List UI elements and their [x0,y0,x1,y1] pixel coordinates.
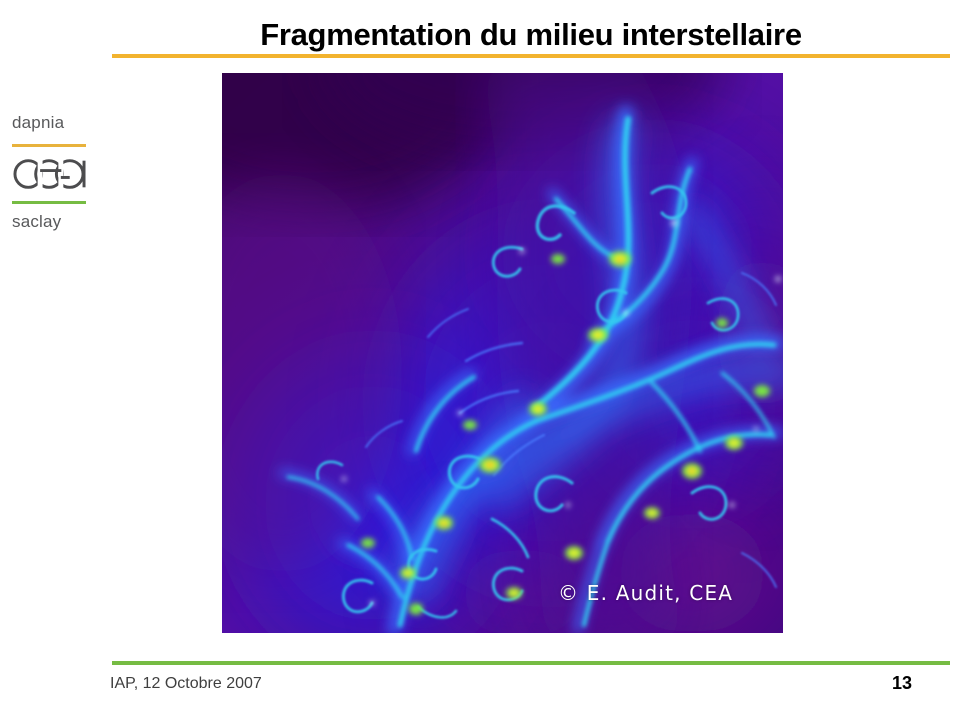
simulation-figure: © E. Audit, CEA [222,73,783,633]
figure-credit: © E. Audit, CEA [558,581,733,605]
logo-divider-gold [12,144,86,147]
logo-word-dapnia: dapnia [12,112,90,133]
cea-dapnia-saclay-logo: dapnia saclay [12,112,90,232]
page-title: Fragmentation du milieu interstellaire [112,16,950,54]
page-number: 13 [892,673,912,694]
cea-logo-mark [12,157,86,191]
title-divider [112,54,950,58]
footer-divider [112,661,950,665]
simulation-image [222,73,783,633]
footer-event-date: IAP, 12 Octobre 2007 [110,675,262,693]
logo-word-saclay: saclay [12,211,90,232]
logo-divider-green [12,201,86,204]
